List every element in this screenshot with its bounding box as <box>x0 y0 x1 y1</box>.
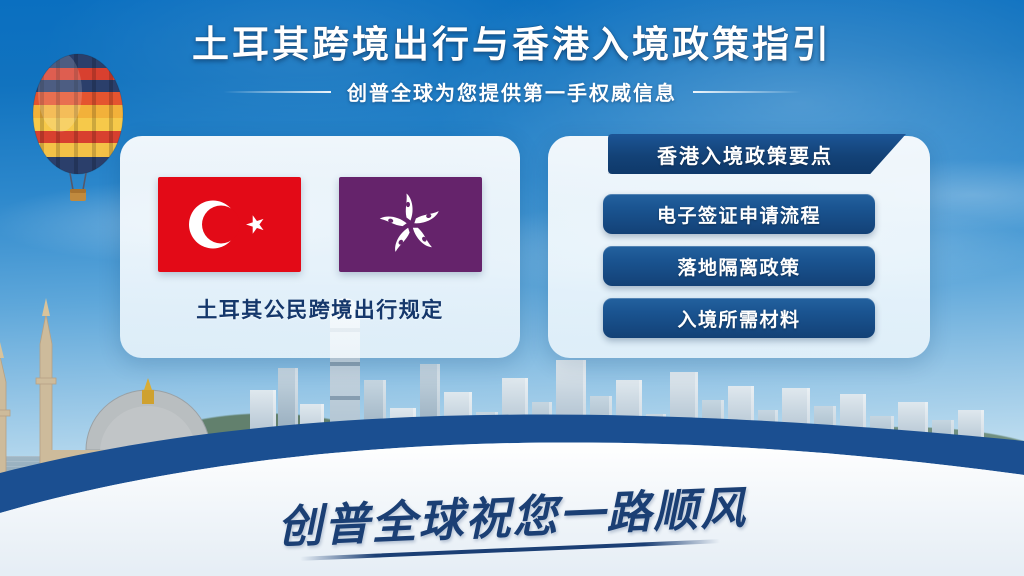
hongkong-card-title: 香港入境政策要点 <box>657 140 833 169</box>
policy-item-evisa[interactable]: 电子签证申请流程 <box>603 194 875 234</box>
turkey-policy-card[interactable]: 土耳其公民跨境出行规定 <box>120 136 520 358</box>
hongkong-policy-card[interactable]: 香港入境政策要点 电子签证申请流程 落地隔离政策 入境所需材料 <box>548 136 930 358</box>
turkey-card-caption: 土耳其公民跨境出行规定 <box>196 294 444 324</box>
poster-header: 土耳其跨境出行与香港入境政策指引 创普全球为您提供第一手权威信息 <box>0 22 1024 106</box>
flag-row <box>158 177 482 272</box>
policy-item-documents[interactable]: 入境所需材料 <box>603 298 875 338</box>
hongkong-flag-icon <box>339 177 482 272</box>
policy-item-list: 电子签证申请流程 落地隔离政策 入境所需材料 <box>548 194 930 338</box>
page-subtitle: 创普全球为您提供第一手权威信息 <box>347 77 677 106</box>
poster-canvas: 创普全球祝您一路顺风 土耳其跨境出行与香港入境政策指引 创普全球为您提供第一手权… <box>0 0 1024 576</box>
turkey-flag-icon <box>158 177 301 272</box>
subtitle-rule-right <box>693 91 801 93</box>
policy-item-quarantine[interactable]: 落地隔离政策 <box>603 246 875 286</box>
page-title: 土耳其跨境出行与香港入境政策指引 <box>0 22 1024 68</box>
subtitle-rule-left <box>223 91 331 93</box>
subtitle-row: 创普全球为您提供第一手权威信息 <box>0 77 1024 106</box>
hongkong-card-ribbon: 香港入境政策要点 <box>608 134 906 174</box>
